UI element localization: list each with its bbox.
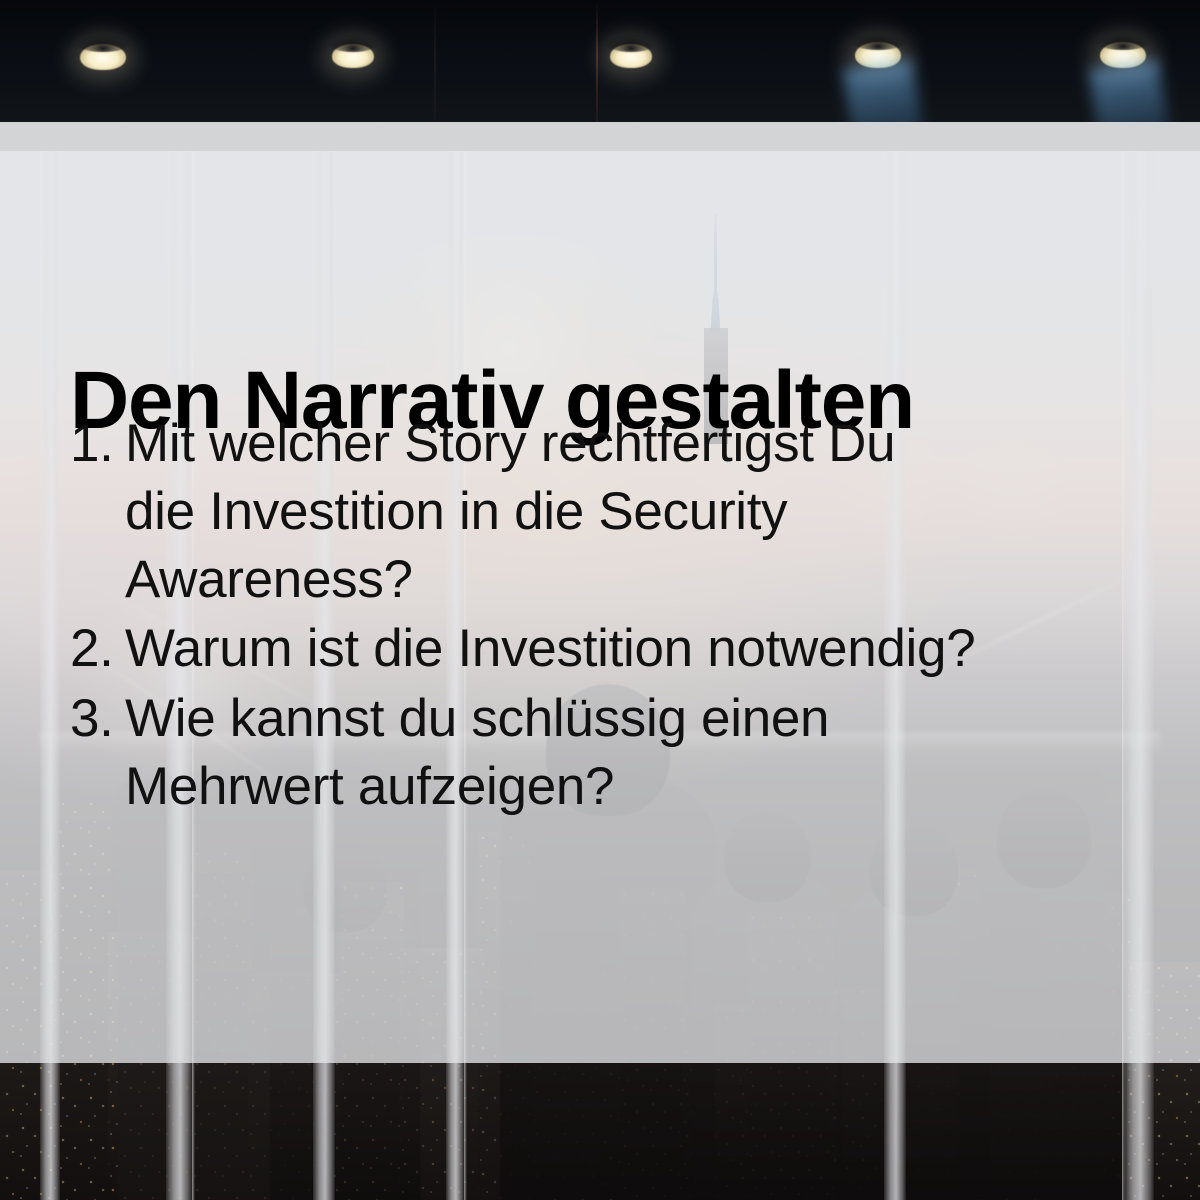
list-item-text: Warum ist die Investition notwendig? bbox=[125, 615, 1180, 683]
list-item-line: Mehrwert aufzeigen? bbox=[125, 753, 1180, 821]
list-item-line: Awareness? bbox=[125, 546, 1180, 614]
list-item-line: die Investition in die Security bbox=[125, 478, 1180, 546]
list-item-line: Wie kannst du schlüssig einen bbox=[125, 685, 1180, 753]
list-item-text: Wie kannst du schlüssig einen Mehrwert a… bbox=[125, 685, 1180, 821]
list-item-line: Mit welcher Story rechtfertigst Du bbox=[125, 410, 1180, 478]
slide-content: Den Narrativ gestalten 1. Mit welcher St… bbox=[0, 0, 1200, 1200]
list-marker: 2. bbox=[70, 615, 125, 683]
list-item-line: Warum ist die Investition notwendig? bbox=[125, 615, 1180, 683]
list-item: 2. Warum ist die Investition notwendig? bbox=[70, 615, 1180, 683]
list-marker: 1. bbox=[70, 410, 125, 478]
list-marker: 3. bbox=[70, 685, 125, 753]
question-list: 1. Mit welcher Story rechtfertigst Du di… bbox=[70, 410, 1180, 823]
list-item-text: Mit welcher Story rechtfertigst Du die I… bbox=[125, 410, 1180, 613]
slide-canvas: Den Narrativ gestalten 1. Mit welcher St… bbox=[0, 0, 1200, 1200]
list-item: 3. Wie kannst du schlüssig einen Mehrwer… bbox=[70, 685, 1180, 821]
list-item: 1. Mit welcher Story rechtfertigst Du di… bbox=[70, 410, 1180, 613]
